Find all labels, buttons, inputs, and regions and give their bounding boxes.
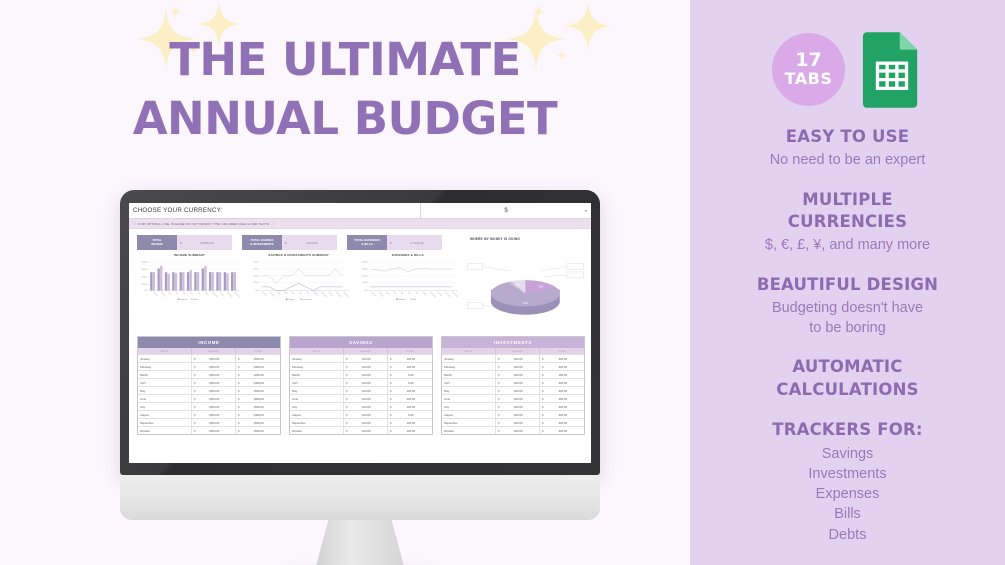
cell-actual: $2250.00 — [236, 371, 280, 378]
cell-value: 2500.00 — [196, 405, 233, 409]
column-header-actual: Actual — [388, 348, 432, 354]
tracker-item-bills: Bills — [708, 504, 987, 524]
cell-actual: $2500.00 — [236, 403, 280, 410]
cell-value: 100.00 — [392, 421, 430, 425]
cell-actual: $100.00 — [388, 363, 432, 370]
tabs-count-badge: 17 TABS — [772, 33, 845, 106]
svg-text:December: December — [233, 291, 240, 298]
cell-value: 2500.00 — [240, 429, 278, 433]
svg-text:June: June — [408, 291, 412, 295]
cell-value: 3400.00 — [240, 365, 278, 369]
svg-text:June: June — [298, 291, 302, 295]
table-row: October$300.00$300.00 — [442, 426, 584, 434]
feature-subtext-line-2: to be boring — [708, 319, 987, 339]
feature-heading-line-1: AUTOMATIC — [708, 356, 987, 378]
cell-value: 2500.00 — [240, 421, 278, 425]
chevron-down-icon: ▾ — [585, 208, 587, 213]
cell-value: 100.00 — [348, 421, 385, 425]
cell-value: 0.00 — [392, 373, 430, 377]
svg-text:August: August — [422, 291, 428, 297]
spreadsheet-screen: CHOOSE YOUR CURRENCY: $ ▾ ⚠ FOR OPTIMAL … — [129, 203, 591, 463]
table-row: June$300.00$450.00 — [442, 394, 584, 402]
cell-value: 100.00 — [348, 357, 385, 361]
cell-expected: $100.00 — [344, 395, 388, 402]
feature-beautiful-design: BEAUTIFUL DESIGN Budgeting doesn't have … — [690, 274, 1005, 338]
table-row: October$2500.00$2500.00 — [138, 426, 280, 434]
cell-actual: $0.00 — [388, 411, 432, 418]
cell-expected: $300.00 — [496, 379, 540, 386]
cell-month: March — [442, 371, 496, 378]
table-investments: INVESTMENTS Month Expected Actual Januar… — [441, 336, 585, 435]
svg-text:January: January — [371, 291, 376, 296]
feature-automatic-calculations: AUTOMATIC CALCULATIONS — [690, 356, 1005, 401]
svg-text:August: August — [204, 291, 210, 297]
cell-month: May — [442, 387, 496, 394]
cell-value: 2500.00 — [196, 373, 233, 377]
cell-actual: $300.00 — [540, 419, 584, 426]
cell-value: 300.00 — [500, 365, 537, 369]
cell-actual: $3400.00 — [236, 411, 280, 418]
chart-income-summary: INCOME SUMMARY 4000.003000.00 2000.00100… — [137, 253, 242, 330]
svg-text:400.00: 400.00 — [254, 269, 259, 271]
svg-text:February: February — [378, 291, 384, 297]
notice-text: FOR OPTIMAL USE, PLEASE DO NOT MODIFY TH… — [138, 222, 269, 226]
sparkle-icon — [532, 5, 545, 18]
svg-text:March: March — [385, 291, 390, 296]
cell-actual: $3400.00 — [236, 363, 280, 370]
table-row: September$100.00$100.00 — [290, 418, 432, 426]
cell-value: 300.00 — [544, 429, 582, 433]
cell-month: September — [290, 419, 344, 426]
svg-text:December: December — [452, 291, 459, 298]
svg-text:April: April — [284, 291, 289, 296]
card-title-line-2: INCOME — [151, 242, 163, 246]
cell-actual: $150.00 — [540, 371, 584, 378]
cell-expected: $2500.00 — [192, 427, 236, 434]
cell-value: 300.00 — [500, 381, 537, 385]
card-title-line-2: & INVESTMENTS — [250, 242, 273, 246]
page-title-line-1: THE ULTIMATE — [0, 30, 690, 89]
cell-month: August — [442, 411, 496, 418]
tracker-item-debts: Debts — [708, 525, 987, 545]
cell-value: 2500.00 — [196, 389, 233, 393]
cell-expected: $2500.00 — [192, 371, 236, 378]
feature-heading-line-1: MULTIPLE — [708, 189, 987, 211]
cell-expected: $100.00 — [344, 387, 388, 394]
table-body: January$300.00$300.00 February$300.00$30… — [442, 354, 584, 434]
cell-value: 100.00 — [392, 365, 430, 369]
cell-actual: $2300.00 — [236, 379, 280, 386]
table-row: June$2500.00$2800.00 — [138, 394, 280, 402]
page-title: THE ULTIMATE ANNUAL BUDGET — [0, 30, 690, 149]
summary-card-value: $ 4,020.00 — [282, 235, 337, 250]
cell-value: 100.00 — [348, 365, 385, 369]
warning-triangle-icon: ⚠ — [133, 222, 136, 226]
table-row: May$300.00$300.00 — [442, 386, 584, 394]
svg-text:April: April — [393, 291, 398, 296]
chart-expenses-bills: EXPENSES & BILLS 2000.001500.00 1000.005… — [355, 253, 460, 330]
cell-actual: $300.00 — [540, 427, 584, 434]
summary-card-value: $ 17,930.00 — [387, 235, 442, 250]
svg-text:Investments: Investments — [303, 298, 312, 301]
table-row: August$100.00$0.00 — [290, 410, 432, 418]
table-row: April$100.00$0.00 — [290, 378, 432, 386]
cell-actual: $100.00 — [388, 387, 432, 394]
cell-value: 2500.00 — [196, 365, 233, 369]
cell-value: 300.00 — [544, 405, 582, 409]
feature-trackers: TRACKERS FOR: Savings Investments Expens… — [690, 419, 1005, 545]
card-currency: $ — [390, 241, 392, 245]
svg-text:September: September — [211, 291, 219, 299]
cell-month: February — [290, 363, 344, 370]
pie-chart-title: WHERE MY MONEY IS GOING — [470, 237, 520, 241]
cell-value: 2500.00 — [196, 357, 233, 361]
currency-row: CHOOSE YOUR CURRENCY: $ ▾ — [129, 203, 591, 219]
card-title-line-2: & BILLS — [361, 242, 372, 246]
monitor-mockup: CHOOSE YOUR CURRENCY: $ ▾ ⚠ FOR OPTIMAL … — [120, 190, 600, 565]
table-row: June$100.00$200.00 — [290, 394, 432, 402]
cell-expected: $2500.00 — [192, 379, 236, 386]
table-row: July$100.00$100.00 — [290, 402, 432, 410]
svg-text:September: September — [430, 291, 438, 299]
cell-expected: $2500.00 — [192, 411, 236, 418]
cell-value: 300.00 — [500, 429, 537, 433]
tables-row: INCOME Month Expected Actual January$250… — [129, 330, 591, 435]
column-header-expected: Expected — [344, 348, 388, 354]
table-row: May$100.00$100.00 — [290, 386, 432, 394]
cell-expected: $100.00 — [344, 363, 388, 370]
svg-text:0.00: 0.00 — [255, 290, 258, 292]
cell-value: 2500.00 — [240, 405, 278, 409]
cell-value: 2500.00 — [196, 429, 233, 433]
cell-month: August — [138, 411, 192, 418]
cell-value: 300.00 — [544, 421, 582, 425]
svg-text:July: July — [197, 291, 201, 295]
cell-actual: $100.00 — [388, 419, 432, 426]
currency-select[interactable]: $ ▾ — [421, 203, 591, 218]
monitor-bezel: CHOOSE YOUR CURRENCY: $ ▾ ⚠ FOR OPTIMAL … — [120, 190, 600, 475]
cell-value: 2500.00 — [196, 381, 233, 385]
cell-month: January — [442, 355, 496, 362]
chart-where-my-money-is-going: 62%22%10% — [466, 253, 585, 330]
tabs-count: 17 — [795, 51, 821, 71]
cell-value: 100.00 — [348, 373, 385, 377]
features-panel: 17 TABS EASY TO USE No need to be an exp… — [690, 0, 1005, 565]
cell-month: July — [442, 403, 496, 410]
svg-text:500.00: 500.00 — [254, 262, 259, 264]
cell-month: January — [138, 355, 192, 362]
table-title: INCOME — [138, 337, 280, 348]
cell-month: October — [138, 427, 192, 434]
cell-value: 2500.00 — [196, 397, 233, 401]
cell-month: September — [138, 419, 192, 426]
column-header-expected: Expected — [496, 348, 540, 354]
table-row: March$100.00$0.00 — [290, 370, 432, 378]
cell-actual: $0.00 — [388, 379, 432, 386]
cell-month: March — [290, 371, 344, 378]
summary-cards: TOTALINCOME $ 29,550.00 TOTAL SAVINGS& I… — [129, 229, 591, 250]
currency-label: CHOOSE YOUR CURRENCY: — [129, 203, 421, 218]
table-row: March$300.00$150.00 — [442, 370, 584, 378]
feature-heading: BEAUTIFUL DESIGN — [708, 274, 987, 296]
svg-text:February: February — [269, 291, 275, 297]
chart-caption: SAVINGS & INVESTMENTS SUMMARY — [246, 253, 351, 257]
table-row: October$100.00$100.00 — [290, 426, 432, 434]
table-row: July$300.00$300.00 — [442, 402, 584, 410]
cell-value: 300.00 — [544, 365, 582, 369]
cell-month: August — [290, 411, 344, 418]
svg-text:Expected: Expected — [181, 298, 188, 301]
cell-expected: $300.00 — [496, 363, 540, 370]
table-header-row: Month Expected Actual — [290, 348, 432, 354]
cell-value: 2500.00 — [196, 413, 233, 417]
cell-expected: $2500.00 — [192, 387, 236, 394]
svg-text:2000.00: 2000.00 — [141, 276, 147, 278]
table-title: SAVINGS — [290, 337, 432, 348]
cell-month: April — [138, 379, 192, 386]
cell-actual: $100.00 — [388, 355, 432, 362]
monitor-stand-neck — [316, 520, 404, 565]
table-income: INCOME Month Expected Actual January$250… — [137, 336, 281, 435]
svg-text:Actual: Actual — [194, 298, 199, 301]
cell-month: October — [442, 427, 496, 434]
table-row: April$2500.00$2300.00 — [138, 378, 280, 386]
feature-multiple-currencies: MULTIPLE CURRENCIES $, €, £, ¥, and many… — [690, 189, 1005, 256]
feature-easy-to-use: EASY TO USE No need to be an expert — [690, 126, 1005, 171]
svg-text:October: October — [328, 291, 334, 297]
cell-month: January — [290, 355, 344, 362]
cell-actual: $2500.00 — [236, 387, 280, 394]
cell-month: July — [290, 403, 344, 410]
cell-expected: $300.00 — [496, 371, 540, 378]
cell-value: 100.00 — [348, 397, 385, 401]
cell-value: 300.00 — [500, 389, 537, 393]
cell-value: 2800.00 — [240, 397, 278, 401]
cell-expected: $300.00 — [496, 419, 540, 426]
column-header-month: Month — [138, 348, 192, 354]
cell-actual: $2500.00 — [236, 355, 280, 362]
cell-expected: $100.00 — [344, 427, 388, 434]
cell-value: 300.00 — [544, 381, 582, 385]
chart-caption: INCOME SUMMARY — [137, 253, 242, 257]
svg-text:March: March — [167, 291, 172, 296]
cell-month: March — [138, 371, 192, 378]
tracker-item-investments: Investments — [708, 464, 987, 484]
cell-month: April — [442, 379, 496, 386]
table-row: February$2500.00$3400.00 — [138, 362, 280, 370]
svg-text:1500.00: 1500.00 — [362, 269, 368, 271]
svg-text:June: June — [189, 291, 193, 295]
cell-actual: $2500.00 — [236, 427, 280, 434]
pie-chart-svg: 62%22%10% — [466, 253, 585, 330]
card-currency: $ — [180, 241, 182, 245]
cell-value: 300.00 — [500, 397, 537, 401]
svg-text:1000.00: 1000.00 — [141, 284, 147, 286]
cell-expected: $300.00 — [496, 427, 540, 434]
table-title: INVESTMENTS — [442, 337, 584, 348]
table-row: July$2500.00$2500.00 — [138, 402, 280, 410]
table-row: March$2500.00$2250.00 — [138, 370, 280, 378]
cell-actual: $200.00 — [388, 395, 432, 402]
svg-text:Expenses: Expenses — [399, 299, 407, 301]
cell-value: 100.00 — [348, 429, 385, 433]
cell-expected: $100.00 — [344, 411, 388, 418]
cell-expected: $100.00 — [344, 403, 388, 410]
cell-actual: $450.00 — [540, 395, 584, 402]
table-savings: SAVINGS Month Expected Actual January$10… — [289, 336, 433, 435]
table-row: April$300.00$300.00 — [442, 378, 584, 386]
svg-text:2000.00: 2000.00 — [362, 262, 368, 264]
page-title-line-2: ANNUAL BUDGET — [0, 89, 690, 148]
cell-value: 300.00 — [500, 373, 537, 377]
svg-text:November: November — [444, 291, 451, 298]
cell-value: 100.00 — [348, 381, 385, 385]
table-body: January$100.00$100.00 February$100.00$10… — [290, 354, 432, 434]
warning-triangle-icon: ⚠ — [271, 222, 274, 226]
svg-text:August: August — [313, 291, 319, 297]
cell-value: 0.00 — [392, 413, 430, 417]
feature-subtext: No need to be an expert — [708, 151, 987, 171]
table-row: January$100.00$100.00 — [290, 354, 432, 362]
svg-text:January: January — [262, 291, 267, 296]
cell-month: February — [138, 363, 192, 370]
cell-expected: $100.00 — [344, 371, 388, 378]
cell-expected: $2500.00 — [192, 355, 236, 362]
cell-value: 100.00 — [392, 357, 430, 361]
summary-card-value: $ 29,550.00 — [177, 235, 232, 250]
cell-expected: $300.00 — [496, 411, 540, 418]
column-header-actual: Actual — [236, 348, 280, 354]
table-row: February$300.00$300.00 — [442, 362, 584, 370]
cell-expected: $2500.00 — [192, 403, 236, 410]
line-chart-svg: 2000.001500.00 1000.00500.000.00 January… — [355, 258, 460, 301]
trackers-heading: TRACKERS FOR: — [708, 419, 987, 441]
cell-actual: $100.00 — [388, 427, 432, 434]
svg-text:November: November — [335, 291, 342, 298]
cell-expected: $300.00 — [496, 403, 540, 410]
svg-text:May: May — [291, 291, 295, 295]
cell-value: 2500.00 — [196, 421, 233, 425]
svg-text:0.00: 0.00 — [365, 290, 368, 292]
table-row: January$2500.00$2500.00 — [138, 354, 280, 362]
svg-text:October: October — [219, 291, 225, 297]
cell-expected: $100.00 — [344, 379, 388, 386]
table-row: August$2500.00$3400.00 — [138, 410, 280, 418]
cell-value: 100.00 — [392, 429, 430, 433]
cell-actual: $0.00 — [388, 371, 432, 378]
charts-row: INCOME SUMMARY 4000.003000.00 2000.00100… — [129, 250, 591, 330]
cell-value: 300.00 — [500, 413, 537, 417]
tracker-item-savings: Savings — [708, 444, 987, 464]
chart-savings-investments-summary: SAVINGS & INVESTMENTS SUMMARY 500.00400.… — [246, 253, 351, 330]
cell-value: 2500.00 — [240, 357, 278, 361]
cell-actual: $300.00 — [540, 403, 584, 410]
svg-text:December: December — [343, 291, 350, 298]
svg-text:4000.00: 4000.00 — [141, 262, 147, 264]
card-amount: 4,020.00 — [290, 241, 334, 245]
column-header-actual: Actual — [540, 348, 584, 354]
cell-expected: $2500.00 — [192, 363, 236, 370]
cell-value: 300.00 — [544, 357, 582, 361]
cell-value: 300.00 — [544, 413, 582, 417]
svg-text:1000.00: 1000.00 — [362, 275, 368, 277]
tabs-label: TABS — [785, 71, 833, 88]
cell-month: February — [442, 363, 496, 370]
card-amount: 29,550.00 — [185, 241, 229, 245]
svg-text:October: October — [437, 291, 443, 297]
table-row: August$300.00$300.00 — [442, 410, 584, 418]
summary-card-total-income: TOTALINCOME $ 29,550.00 — [137, 235, 232, 250]
summary-card-title: TOTAL EXPENSES& BILLS — [347, 235, 387, 250]
svg-text:May: May — [182, 291, 186, 295]
currency-selected-value: $ — [504, 208, 507, 214]
cell-value: 450.00 — [544, 397, 582, 401]
cell-expected: $2500.00 — [192, 419, 236, 426]
line-chart-svg: 500.00400.00 300.00200.000.00 January Fe… — [246, 258, 351, 301]
cell-value: 150.00 — [544, 373, 582, 377]
cell-month: October — [290, 427, 344, 434]
summary-card-total-savings-investments: TOTAL SAVINGS& INVESTMENTS $ 4,020.00 — [242, 235, 337, 250]
cell-expected: $300.00 — [496, 395, 540, 402]
svg-text:February: February — [160, 291, 166, 297]
table-row: September$300.00$300.00 — [442, 418, 584, 426]
cell-value: 2500.00 — [240, 389, 278, 393]
feature-subtext-line-1: Budgeting doesn't have — [708, 299, 987, 319]
cell-month: June — [290, 395, 344, 402]
cell-month: June — [442, 395, 496, 402]
cell-actual: $300.00 — [540, 411, 584, 418]
svg-text:July: July — [306, 291, 310, 295]
cell-actual: $100.00 — [388, 403, 432, 410]
cell-actual: $300.00 — [540, 355, 584, 362]
cell-actual: $2800.00 — [236, 395, 280, 402]
summary-card-title: TOTAL SAVINGS& INVESTMENTS — [242, 235, 282, 250]
cell-value: 0.00 — [392, 381, 430, 385]
table-row: February$100.00$100.00 — [290, 362, 432, 370]
cell-actual: $2500.00 — [236, 419, 280, 426]
cell-value: 300.00 — [500, 357, 537, 361]
sparkle-icon — [169, 5, 182, 18]
column-header-expected: Expected — [192, 348, 236, 354]
card-currency: $ — [285, 241, 287, 245]
svg-text:March: March — [276, 291, 281, 296]
cell-month: May — [138, 387, 192, 394]
svg-text:April: April — [175, 291, 180, 296]
chart-caption: EXPENSES & BILLS — [355, 253, 460, 257]
cell-value: 2300.00 — [240, 381, 278, 385]
svg-text:January: January — [153, 291, 158, 296]
feature-heading-line-2: CURRENCIES — [708, 211, 987, 233]
feature-subtext: $, €, £, ¥, and many more — [708, 236, 987, 256]
cell-actual: $300.00 — [540, 387, 584, 394]
cell-value: 100.00 — [392, 389, 430, 393]
svg-text:200.00: 200.00 — [254, 282, 259, 284]
table-row: September$2500.00$2500.00 — [138, 418, 280, 426]
column-header-month: Month — [290, 348, 344, 354]
table-body: January$2500.00$2500.00 February$2500.00… — [138, 354, 280, 434]
cell-value: 100.00 — [392, 405, 430, 409]
table-header-row: Month Expected Actual — [138, 348, 280, 354]
cell-expected: $2500.00 — [192, 395, 236, 402]
table-row: May$2500.00$2500.00 — [138, 386, 280, 394]
cell-month: September — [442, 419, 496, 426]
feature-heading: EASY TO USE — [708, 126, 987, 148]
badge-row: 17 TABS — [690, 0, 1005, 108]
column-header-month: Month — [442, 348, 496, 354]
svg-text:300.00: 300.00 — [254, 275, 259, 277]
cell-month: May — [290, 387, 344, 394]
tracker-item-expenses: Expenses — [708, 484, 987, 504]
